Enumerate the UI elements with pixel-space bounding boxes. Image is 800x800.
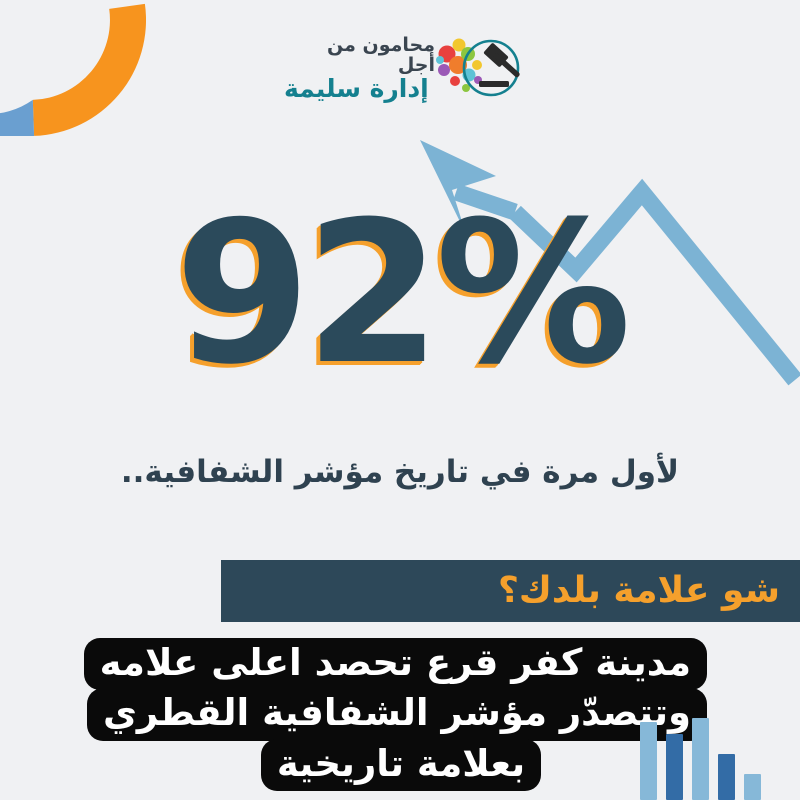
brand-logo-text: محامون من أجل إدارة سليمة xyxy=(284,36,435,102)
logo-name: إدارة سليمة xyxy=(284,76,429,102)
bar-item xyxy=(692,718,709,800)
subtitle-text: لأول مرة في تاريخ مؤشر الشفافية.. xyxy=(0,452,800,494)
gavel-in-circle-icon xyxy=(435,32,523,106)
hero-percentage: 92% xyxy=(0,196,800,392)
brand-logo[interactable]: محامون من أجل إدارة سليمة xyxy=(278,28,523,110)
bar-item xyxy=(744,774,761,800)
caption-line: بعلامة تاريخية xyxy=(261,739,541,791)
bar-item xyxy=(666,734,683,800)
donut-chart-decoration xyxy=(0,0,146,136)
bar-chart-decoration xyxy=(640,690,800,800)
bar-item xyxy=(640,722,657,800)
caption-block: مدينة كفر قرع تحصد اعلى علامه وتتصدّر مؤ… xyxy=(95,638,707,791)
caption-row: بعلامة تاريخية xyxy=(95,739,707,791)
question-banner: شو علامة بلدك؟ xyxy=(221,560,800,622)
bar-item xyxy=(718,754,735,800)
caption-row: مدينة كفر قرع تحصد اعلى علامه xyxy=(95,638,707,690)
question-banner-text: شو علامة بلدك؟ xyxy=(498,573,780,609)
caption-row: وتتصدّر مؤشر الشفافية القطري xyxy=(95,688,707,740)
caption-line: وتتصدّر مؤشر الشفافية القطري xyxy=(87,688,707,740)
infographic-canvas: محامون من أجل إدارة سليمة 92% لأول مرة ف… xyxy=(0,0,800,800)
logo-tagline: محامون من أجل xyxy=(284,36,435,76)
donut-segment-blue xyxy=(0,96,34,137)
caption-line: مدينة كفر قرع تحصد اعلى علامه xyxy=(84,638,707,690)
donut-segment-orange xyxy=(33,4,146,136)
